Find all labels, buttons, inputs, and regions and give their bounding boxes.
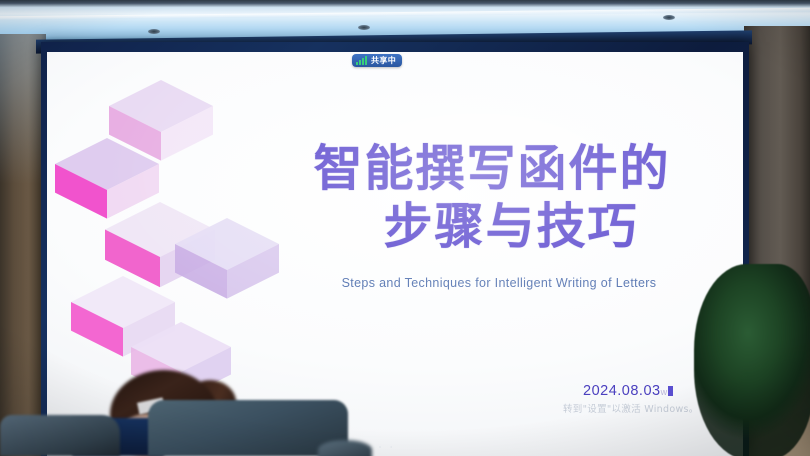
downlight-icon [663, 15, 675, 20]
seated-person-icon [318, 440, 372, 456]
screen-sharing-badge[interactable]: 共享中 [352, 54, 402, 67]
downlight-icon [358, 25, 370, 30]
ceiling-seam [0, 8, 810, 20]
slide-date: 2024.08.03w [583, 383, 673, 399]
left-wall-light-glow [0, 34, 46, 184]
screen-sharing-label: 共享中 [371, 57, 396, 65]
slide-title-block: 智能撰写函件的 步骤与技巧 Steps and Techniques for I… [255, 140, 725, 290]
slide-title-line2: 步骤与技巧 [255, 198, 725, 256]
potted-plant-icon [672, 236, 810, 456]
photo-scene: 智能撰写函件的 步骤与技巧 Steps and Techniques for I… [0, 0, 810, 456]
slide-date-value: 2024.08.03 [583, 383, 661, 399]
downlight-icon [148, 29, 160, 34]
plant-foliage [694, 264, 810, 456]
signal-bars-icon [356, 56, 367, 65]
slide-subtitle: Steps and Techniques for Intelligent Wri… [255, 276, 725, 290]
slide-title-line1: 智能撰写函件的 [255, 140, 725, 198]
slide-date-suffix: w [661, 387, 668, 397]
office-chair-icon [0, 415, 120, 456]
